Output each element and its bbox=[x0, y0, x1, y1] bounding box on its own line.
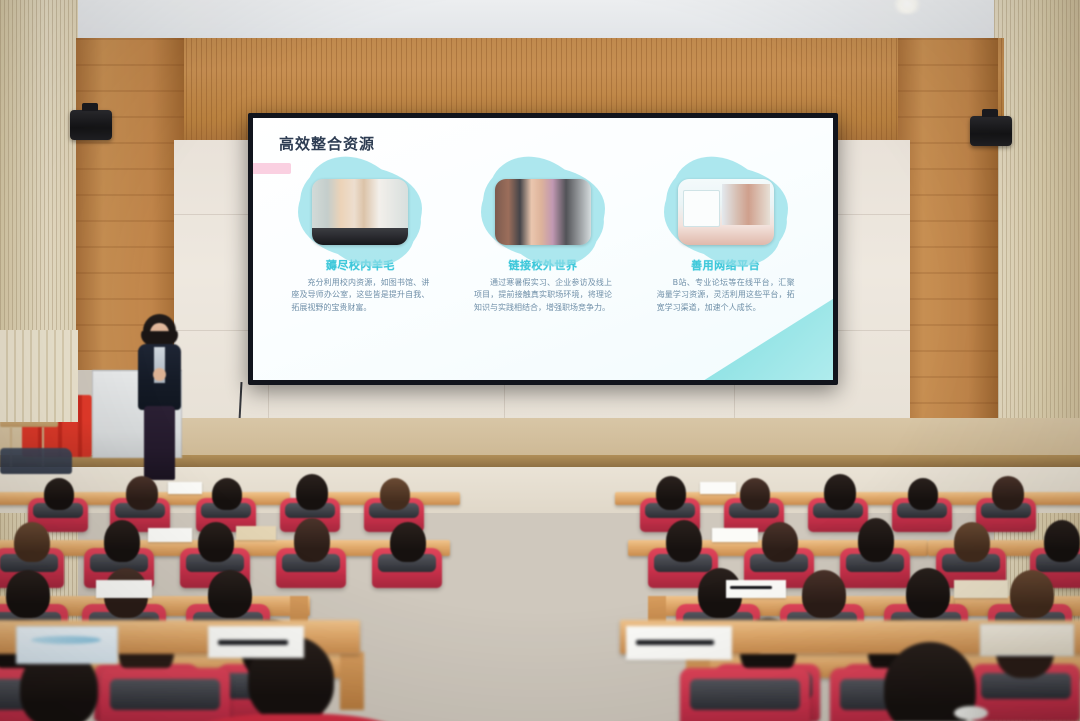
desk-paper bbox=[148, 528, 192, 542]
hair-tie bbox=[954, 706, 988, 720]
audience-head bbox=[380, 478, 410, 510]
audience-head bbox=[824, 474, 856, 510]
card-body-text: 充分利用校内资源，如图书馆、讲座及导师办公室，这些皆是提升自我、拓展视野的宝贵财… bbox=[291, 277, 429, 314]
audience-head bbox=[208, 570, 252, 618]
desk-booklet bbox=[980, 624, 1074, 656]
desk-paper bbox=[712, 528, 758, 542]
card-body-text: B站、专业论坛等在线平台，汇聚海量学习资源，灵活利用这些平台，拓宽学习渠道，加速… bbox=[657, 277, 795, 314]
audience-head bbox=[906, 568, 950, 618]
audience-seating bbox=[0, 470, 1080, 721]
slide-title: 高效整合资源 bbox=[279, 133, 375, 154]
lecture-hall-photo: 高效整合资源 薅尽校内羊毛 充分利用校内资源，如图书馆、讲座及导师办公室，这些皆… bbox=[0, 0, 1080, 721]
slide-canvas: 高效整合资源 薅尽校内羊毛 充分利用校内资源，如图书馆、讲座及导师办公室，这些皆… bbox=[253, 118, 833, 380]
wood-pillar-right bbox=[898, 38, 998, 470]
card-photo-computers bbox=[495, 179, 591, 245]
audience-head bbox=[294, 518, 330, 562]
audience-head bbox=[1010, 570, 1054, 618]
desk-paper bbox=[168, 482, 202, 494]
desk-paper bbox=[954, 580, 1008, 598]
chair bbox=[680, 668, 810, 721]
audience-head bbox=[992, 476, 1024, 510]
chair bbox=[100, 668, 230, 721]
presenter bbox=[129, 314, 189, 474]
card-image-wrap bbox=[670, 173, 782, 251]
presenter-hands bbox=[153, 368, 166, 381]
audience-head bbox=[198, 522, 234, 562]
card-photo-online-platform bbox=[678, 179, 774, 245]
desk-paper bbox=[700, 482, 736, 494]
window-blinds bbox=[0, 330, 78, 422]
slide-card: 善用网络平台 B站、专业论坛等在线平台，汇聚海量学习资源，灵活利用这些平台，拓宽… bbox=[646, 173, 806, 314]
audience-head bbox=[390, 522, 426, 562]
desk-paper bbox=[236, 526, 276, 540]
audience-head bbox=[908, 478, 938, 510]
audience-head bbox=[762, 522, 798, 562]
desk-pen bbox=[730, 586, 772, 589]
audience-head bbox=[44, 478, 74, 510]
presenter-trousers bbox=[144, 406, 175, 480]
audience-head bbox=[104, 520, 140, 562]
audience-head bbox=[740, 478, 770, 510]
wall-speaker-right-icon bbox=[970, 116, 1012, 146]
desk-side-panel bbox=[340, 652, 364, 710]
audience-head bbox=[802, 570, 846, 618]
audience-head bbox=[6, 570, 50, 618]
audience-head bbox=[858, 518, 894, 562]
audience-head bbox=[14, 522, 50, 562]
desk-pen bbox=[218, 640, 288, 645]
slide-card: 薅尽校内羊毛 充分利用校内资源，如图书馆、讲座及导师办公室，这些皆是提升自我、拓… bbox=[280, 173, 440, 314]
audience-head bbox=[296, 474, 328, 510]
audience-head bbox=[126, 476, 158, 510]
desk-paper bbox=[96, 580, 152, 598]
card-image-wrap bbox=[487, 173, 599, 251]
slide-card-list: 薅尽校内羊毛 充分利用校内资源，如图书馆、讲座及导师办公室，这些皆是提升自我、拓… bbox=[253, 173, 833, 314]
audience-head bbox=[656, 476, 686, 510]
audience-head bbox=[1044, 520, 1080, 562]
projection-screen[interactable]: 高效整合资源 薅尽校内羊毛 充分利用校内资源，如图书馆、讲座及导师办公室，这些皆… bbox=[248, 113, 838, 385]
audience-head bbox=[666, 520, 702, 562]
desk-booklet bbox=[16, 626, 118, 664]
slide-card: 链接校外世界 通过寒暑假实习、企业参访及线上项目，提前接触真实职场环境，将理论知… bbox=[463, 173, 623, 314]
audience-head bbox=[954, 522, 990, 562]
desk-pen bbox=[636, 640, 714, 645]
desk-paper bbox=[726, 580, 786, 598]
card-image-wrap bbox=[304, 173, 416, 251]
wall-speaker-left-icon bbox=[70, 110, 112, 140]
card-photo-library bbox=[312, 179, 408, 245]
card-body-text: 通过寒暑假实习、企业参访及线上项目，提前接触真实职场环境，将理论知识与实践相结合… bbox=[474, 277, 612, 314]
audience-head bbox=[212, 478, 242, 510]
